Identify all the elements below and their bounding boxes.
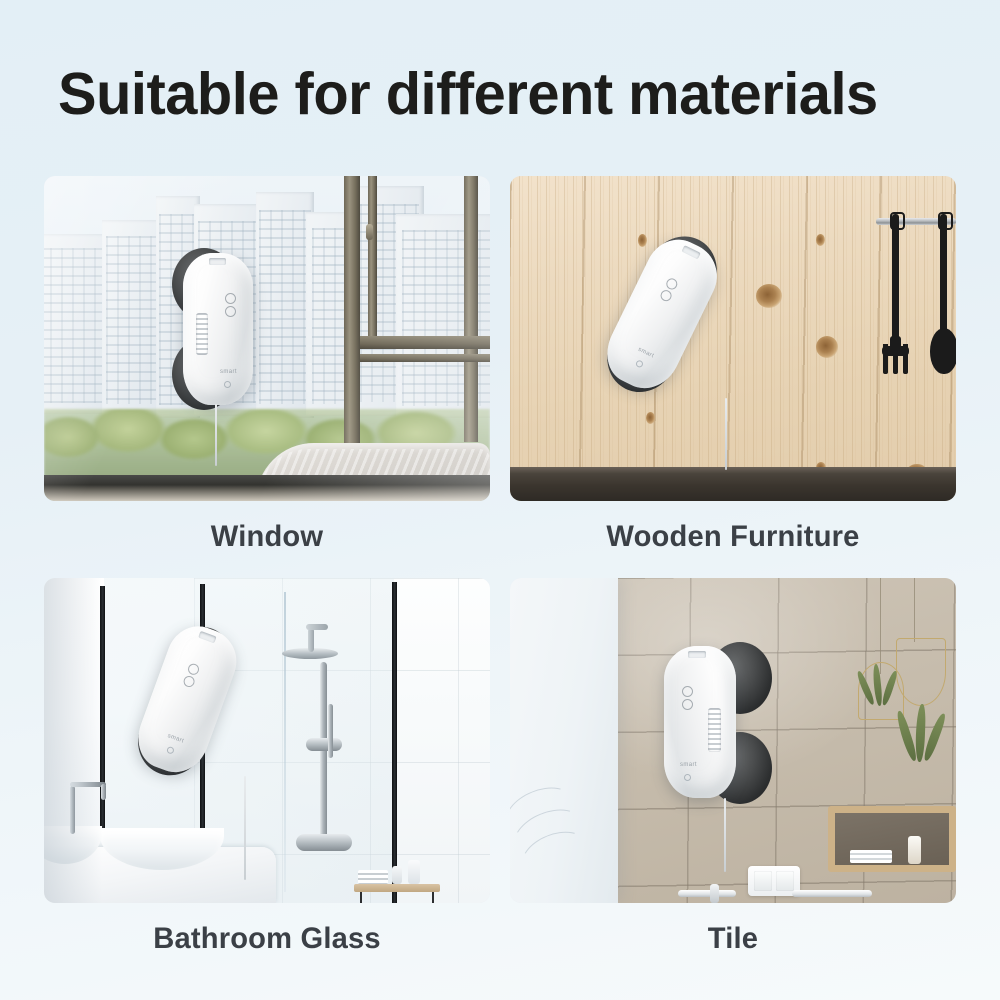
robot-brand-logo: smart	[680, 762, 697, 768]
robot-top-notch	[682, 245, 701, 259]
robot-vent-grille	[708, 708, 721, 752]
plant-hanger-wire	[880, 578, 881, 674]
light-switch-rocker[interactable]	[776, 871, 794, 891]
toiletry-bottle	[408, 860, 420, 884]
caption-wooden-furniture: Wooden Furniture	[517, 520, 950, 554]
robot-power-button	[225, 293, 236, 304]
shelf-leg	[432, 892, 434, 903]
fork-handle	[892, 214, 899, 342]
robot-power-cord	[244, 776, 246, 880]
shower-arm-bend	[306, 624, 328, 630]
caption-bathroom-glass: Bathroom Glass	[51, 922, 484, 956]
photo-tile: smart	[510, 578, 956, 903]
robot-mode-button	[225, 306, 236, 317]
robot-power-cord	[724, 798, 726, 872]
materials-grid: smart Window	[44, 176, 956, 906]
wood-knot	[638, 234, 647, 247]
robot-power-cord	[215, 404, 217, 466]
toiletry-bottle	[392, 866, 402, 884]
plant-hanger-wire	[914, 578, 915, 642]
glass-frame-right	[392, 582, 397, 903]
folded-towels	[358, 870, 388, 884]
robot-indicator-light	[224, 381, 231, 388]
photo-window: smart	[44, 176, 490, 501]
photo-bathroom-glass: smart	[44, 578, 490, 903]
robot-power-cord	[725, 398, 727, 470]
shelf-book-stack	[850, 850, 892, 863]
wooden-shelf	[354, 884, 440, 892]
towel-rail-right	[792, 890, 872, 897]
window-cleaning-robot: smart	[668, 640, 772, 804]
hand-shower-holder	[328, 704, 333, 758]
page-title: Suitable for different materials	[58, 62, 940, 126]
robot-body: smart	[664, 646, 736, 798]
shower-arm	[308, 628, 314, 652]
wooden-wall-shelf	[828, 806, 956, 872]
fork-tine	[893, 344, 898, 374]
caption-window: Window	[51, 520, 484, 554]
fork-tine	[903, 344, 908, 374]
spoon-hook	[938, 212, 953, 230]
robot-top-notch	[209, 258, 226, 265]
spoon-handle	[940, 214, 947, 336]
glass-edge-highlight	[284, 592, 286, 892]
wood-knot	[816, 234, 825, 246]
shelf-bottle	[908, 836, 921, 864]
wall-shadow-left	[44, 578, 102, 903]
robot-mode-button	[659, 288, 674, 303]
material-card-window: smart Window	[44, 176, 490, 554]
material-card-wooden-furniture: smart Wooden Furniture	[510, 176, 956, 554]
fork-head	[882, 336, 909, 374]
glass-reflection	[44, 176, 490, 501]
fork-hook	[890, 212, 905, 230]
robot-brand-logo: smart	[220, 369, 237, 375]
robot-top-notch	[198, 631, 216, 643]
robot-brand-logo: smart	[167, 733, 185, 744]
robot-indicator-light	[684, 774, 691, 781]
shelf-leg	[360, 892, 362, 903]
robot-vent-grille	[196, 313, 208, 355]
shower-thermostat	[296, 834, 352, 851]
light-switch-rocker[interactable]	[754, 871, 772, 891]
photo-wooden-furniture: smart	[510, 176, 956, 501]
wood-knot	[646, 412, 655, 424]
robot-body: smart	[183, 253, 253, 405]
material-card-tile: smart Tile	[510, 578, 956, 956]
robot-mode-button	[682, 699, 693, 710]
towel-rail-left	[678, 890, 736, 897]
shower-mixer-valve	[306, 738, 342, 751]
window-cleaning-robot: smart	[174, 246, 262, 412]
robot-indicator-light	[635, 359, 644, 368]
robot-brand-logo: smart	[637, 347, 655, 360]
brass-plant-holder	[896, 638, 946, 706]
shower-riser-bar	[320, 662, 327, 844]
material-card-bathroom-glass: smart Bathroom Glass	[44, 578, 490, 956]
robot-indicator-light	[166, 746, 175, 755]
robot-mode-button	[182, 674, 196, 688]
marketing-image: Suitable for different materials	[0, 0, 1000, 1000]
robot-top-notch	[688, 651, 706, 658]
robot-power-button	[186, 662, 200, 676]
rail-bracket	[710, 884, 719, 903]
fork-tine	[883, 344, 888, 374]
caption-tile: Tile	[517, 922, 950, 956]
dark-countertop	[510, 467, 956, 501]
wood-knot	[816, 336, 838, 358]
robot-power-button	[682, 686, 693, 697]
spoon-bowl	[930, 328, 956, 374]
